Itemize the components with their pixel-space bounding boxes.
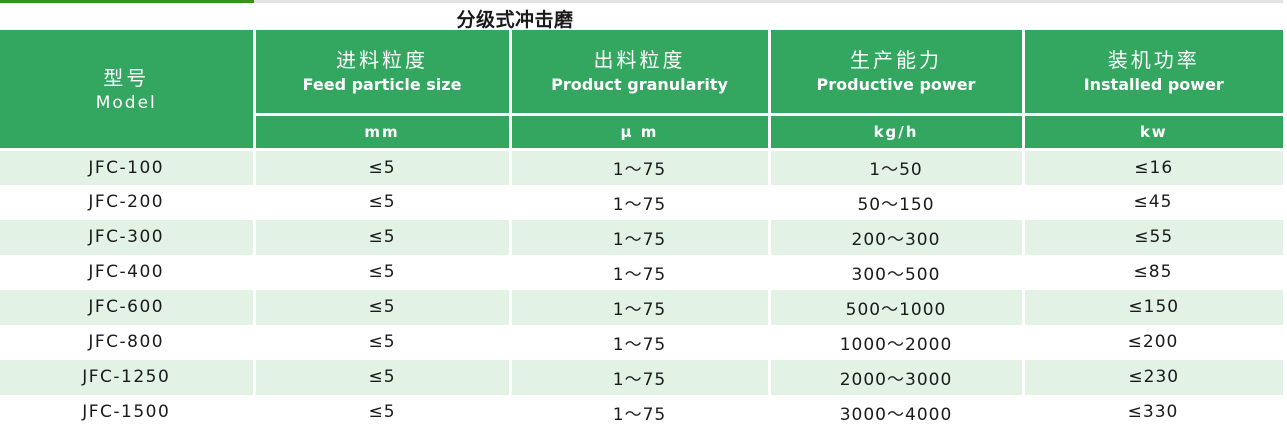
cell-model: JFC-600 xyxy=(0,290,254,325)
cell-granularity: 1〜75 xyxy=(510,220,769,255)
cell-capacity: 1〜50 xyxy=(769,150,1023,185)
cell-power: ≤45 xyxy=(1023,185,1283,220)
cell-power: ≤150 xyxy=(1023,290,1283,325)
cell-capacity: 200〜300 xyxy=(769,220,1023,255)
table-head: 型号 Model 进料粒度 Feed particle size 出料粒度 Pr… xyxy=(0,30,1283,150)
table-row: JFC-200 ≤5 1〜75 50〜150 ≤45 xyxy=(0,185,1283,220)
cell-model: JFC-800 xyxy=(0,325,254,360)
unit-product-granularity: μ m xyxy=(510,115,769,150)
unit-feed-particle-size: mm xyxy=(254,115,510,150)
cell-granularity: 1〜75 xyxy=(510,255,769,290)
column-header-capacity-en: Productive power xyxy=(771,74,1022,96)
column-header-model: 型号 Model xyxy=(0,30,254,150)
cell-power: ≤230 xyxy=(1023,360,1283,395)
column-header-feed-particle-size: 进料粒度 Feed particle size xyxy=(254,30,510,115)
cell-power: ≤200 xyxy=(1023,325,1283,360)
title-band: 分级式冲击磨 xyxy=(0,3,1283,30)
column-header-granularity-en: Product granularity xyxy=(512,74,768,96)
cell-feed: ≤5 xyxy=(254,150,510,185)
cell-model: JFC-1250 xyxy=(0,360,254,395)
column-header-installed-power: 装机功率 Installed power xyxy=(1023,30,1283,115)
cell-power: ≤85 xyxy=(1023,255,1283,290)
cell-granularity: 1〜75 xyxy=(510,395,769,430)
cell-granularity: 1〜75 xyxy=(510,360,769,395)
column-header-power-cn: 装机功率 xyxy=(1025,47,1284,74)
column-header-power-en: Installed power xyxy=(1025,74,1284,96)
cell-feed: ≤5 xyxy=(254,185,510,220)
table-row: JFC-100 ≤5 1〜75 1〜50 ≤16 xyxy=(0,150,1283,185)
cell-model: JFC-100 xyxy=(0,150,254,185)
unit-productive-power: kg/h xyxy=(769,115,1023,150)
column-header-model-cn: 型号 xyxy=(0,65,253,92)
cell-feed: ≤5 xyxy=(254,290,510,325)
cell-model: JFC-1500 xyxy=(0,395,254,430)
cell-granularity: 1〜75 xyxy=(510,150,769,185)
cell-capacity: 1000〜2000 xyxy=(769,325,1023,360)
page-title: 分级式冲击磨 xyxy=(0,5,1030,32)
cell-power: ≤330 xyxy=(1023,395,1283,430)
table-body: JFC-100 ≤5 1〜75 1〜50 ≤16 JFC-200 ≤5 1〜75… xyxy=(0,150,1283,430)
column-header-capacity-cn: 生产能力 xyxy=(771,47,1022,74)
column-header-productive-power: 生产能力 Productive power xyxy=(769,30,1023,115)
table-row: JFC-1500 ≤5 1〜75 3000〜4000 ≤330 xyxy=(0,395,1283,430)
cell-model: JFC-400 xyxy=(0,255,254,290)
cell-feed: ≤5 xyxy=(254,325,510,360)
column-header-feed-en: Feed particle size xyxy=(256,74,509,96)
cell-granularity: 1〜75 xyxy=(510,325,769,360)
cell-capacity: 50〜150 xyxy=(769,185,1023,220)
table-row: JFC-600 ≤5 1〜75 500〜1000 ≤150 xyxy=(0,290,1283,325)
column-header-product-granularity: 出料粒度 Product granularity xyxy=(510,30,769,115)
cell-granularity: 1〜75 xyxy=(510,185,769,220)
cell-capacity: 3000〜4000 xyxy=(769,395,1023,430)
cell-model: JFC-300 xyxy=(0,220,254,255)
cell-feed: ≤5 xyxy=(254,220,510,255)
column-header-granularity-cn: 出料粒度 xyxy=(512,47,768,74)
cell-capacity: 300〜500 xyxy=(769,255,1023,290)
column-header-model-en: Model xyxy=(0,92,253,116)
cell-feed: ≤5 xyxy=(254,255,510,290)
unit-installed-power: kw xyxy=(1023,115,1283,150)
column-header-feed-cn: 进料粒度 xyxy=(256,47,509,74)
cell-granularity: 1〜75 xyxy=(510,290,769,325)
table-row: JFC-400 ≤5 1〜75 300〜500 ≤85 xyxy=(0,255,1283,290)
cell-capacity: 2000〜3000 xyxy=(769,360,1023,395)
specification-table: 型号 Model 进料粒度 Feed particle size 出料粒度 Pr… xyxy=(0,30,1285,430)
table-row: JFC-300 ≤5 1〜75 200〜300 ≤55 xyxy=(0,220,1283,255)
cell-capacity: 500〜1000 xyxy=(769,290,1023,325)
cell-feed: ≤5 xyxy=(254,360,510,395)
cell-power: ≤55 xyxy=(1023,220,1283,255)
cell-power: ≤16 xyxy=(1023,150,1283,185)
table-row: JFC-1250 ≤5 1〜75 2000〜3000 ≤230 xyxy=(0,360,1283,395)
header-row-titles: 型号 Model 进料粒度 Feed particle size 出料粒度 Pr… xyxy=(0,30,1283,115)
cell-feed: ≤5 xyxy=(254,395,510,430)
table-row: JFC-800 ≤5 1〜75 1000〜2000 ≤200 xyxy=(0,325,1283,360)
spec-sheet-page: 分级式冲击磨 型号 Model 进料粒度 Feed particle size … xyxy=(0,0,1287,438)
cell-model: JFC-200 xyxy=(0,185,254,220)
